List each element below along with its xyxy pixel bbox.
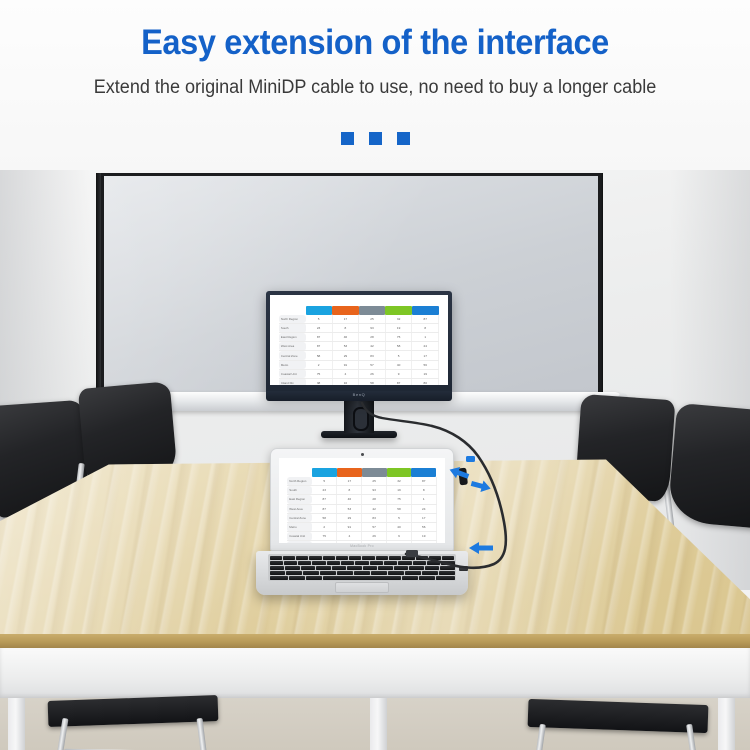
column-header-3 (387, 468, 412, 477)
spreadsheet-dashboard: North Region517253287South23893198East R… (270, 295, 448, 385)
monitor-bezel: North Region517253287South23893198East R… (266, 291, 452, 397)
column-header-2 (362, 468, 387, 477)
table-cell: 5 (312, 477, 337, 486)
row-label: North Region (287, 477, 312, 486)
table-cell: 29 (332, 351, 359, 360)
table-cell: 87 (306, 333, 333, 342)
banner-header: Easy extension of the interface Extend t… (0, 0, 750, 170)
table-cell: 53 (332, 342, 359, 351)
table-cell: 87 (411, 477, 436, 486)
table-cell: 75 (312, 532, 337, 541)
table-cell: 87 (387, 541, 412, 543)
table-cell: 56 (411, 522, 436, 531)
table-cell: 17 (332, 315, 359, 324)
table-cell: 87 (306, 342, 333, 351)
table-cell: 17 (337, 477, 362, 486)
table-leg-left (8, 698, 25, 750)
laptop-lid: North Region517253287South23893198East R… (270, 448, 454, 551)
table-cell: 5 (306, 315, 333, 324)
table-row: Central Zone582983517 (287, 513, 436, 522)
table-cell: 4 (332, 369, 359, 378)
table-cell: 16 (337, 541, 362, 543)
laptop-screen: North Region517253287South23893198East R… (279, 458, 445, 543)
table-cell: 29 (337, 513, 362, 522)
column-header-4 (411, 468, 436, 477)
page-subtitle: Extend the original MiniDP cable to use,… (19, 64, 732, 100)
page-title: Easy extension of the interface (26, 0, 724, 64)
table-cell: 46 (337, 495, 362, 504)
table-cell: 40 (385, 360, 412, 369)
column-header-1 (332, 306, 359, 315)
table-cell: 9 (387, 532, 412, 541)
dot-1-icon (341, 132, 354, 145)
monitor-screen: North Region517253287South23893198East R… (270, 295, 448, 385)
table-cell: 93 (359, 323, 386, 332)
row-label: Inland Div (279, 378, 306, 385)
table-row: East Region874628751 (287, 495, 436, 504)
external-monitor: North Region517253287South23893198East R… (266, 291, 452, 409)
row-label: West Area (287, 504, 312, 513)
table-cell: 5 (387, 513, 412, 522)
table-cell: 4 (337, 532, 362, 541)
table-row: North Region517253287 (279, 315, 439, 324)
table-cell: 58 (306, 351, 333, 360)
key-row (270, 561, 455, 565)
table-row: South23893198 (287, 486, 436, 495)
column-header-0 (306, 306, 333, 315)
table-cell: 57 (362, 522, 387, 531)
table-cell: 23 (306, 323, 333, 332)
laptop-brand-label: MacBook Pro (350, 544, 374, 548)
table-cell: 9 (385, 369, 412, 378)
table-cell: 28 (362, 495, 387, 504)
row-label-header (279, 306, 306, 315)
column-header-3 (385, 306, 412, 315)
row-label-header (287, 468, 312, 477)
table-cell: 2 (312, 522, 337, 531)
table-cell: 91 (332, 360, 359, 369)
table-cell: 8 (412, 323, 439, 332)
table-cell: 16 (332, 378, 359, 385)
table-header-row (287, 468, 436, 477)
decorative-dots (0, 131, 750, 145)
table-cell: 58 (362, 541, 387, 543)
monitor-cable-slot (353, 407, 369, 431)
table-cell: 1 (411, 495, 436, 504)
table-row: South23893198 (279, 323, 439, 332)
table-cell: 80 (411, 541, 436, 543)
table-row: Inland Div3816588780 (287, 541, 436, 543)
table-cell: 83 (362, 513, 387, 522)
table-cell: 32 (387, 477, 412, 486)
table-cell: 53 (337, 504, 362, 513)
table-body: North Region517253287South23893198East R… (279, 315, 439, 385)
table-row: East Region874628751 (279, 333, 439, 342)
row-label: South (279, 323, 306, 332)
table-cell: 91 (337, 522, 362, 531)
key-row (270, 576, 455, 580)
row-label: Inland Div (287, 541, 312, 543)
table-cell: 87 (312, 495, 337, 504)
table-cell: 24 (411, 504, 436, 513)
table-cell: 75 (306, 369, 333, 378)
table-row: Coastal Unit75426919 (279, 369, 439, 378)
table-body: North Region517253287South23893198East R… (287, 477, 436, 543)
table-cell: 58 (385, 342, 412, 351)
key-row (270, 556, 455, 560)
dot-3-icon (397, 132, 410, 145)
row-label: Central Zone (279, 351, 306, 360)
row-label: South (287, 486, 312, 495)
table-cell: 17 (411, 513, 436, 522)
table-cell: 38 (306, 378, 333, 385)
table-row: Metro291574056 (287, 522, 436, 531)
table-cell: 87 (412, 315, 439, 324)
laptop: North Region517253287South23893198East R… (256, 448, 468, 598)
table-cell: 42 (362, 504, 387, 513)
table-cell: 25 (359, 315, 386, 324)
table-cell: 58 (359, 378, 386, 385)
table-row: Inland Div3816588780 (279, 378, 439, 385)
row-label: Central Zone (287, 513, 312, 522)
table-cell: 57 (359, 360, 386, 369)
table-cell: 26 (359, 369, 386, 378)
conference-room-photo: North Region517253287South23893198East R… (0, 160, 750, 750)
table-cell: 19 (387, 486, 412, 495)
table-header-row (279, 306, 439, 315)
table-cell: 19 (385, 323, 412, 332)
table-row: Central Zone582983517 (279, 351, 439, 360)
laptop-minidp-port (459, 566, 468, 571)
table-cell: 24 (412, 342, 439, 351)
spreadsheet-body: North Region517253287South23893198East R… (270, 295, 448, 385)
row-label: Metro (279, 360, 306, 369)
table-cell: 75 (387, 495, 412, 504)
table-cell: 75 (385, 333, 412, 342)
dot-2-icon (369, 132, 382, 145)
product-banner: Easy extension of the interface Extend t… (0, 0, 750, 750)
table-cell: 25 (362, 477, 387, 486)
laptop-trackpad[interactable] (335, 582, 389, 593)
table-row: West Area8753425824 (279, 342, 439, 351)
table-cell: 19 (412, 369, 439, 378)
arrow-laptop-port (468, 540, 494, 556)
row-label: Metro (287, 522, 312, 531)
table-leg-middle (370, 698, 387, 750)
table-cell: 58 (387, 504, 412, 513)
table-cell: 17 (412, 351, 439, 360)
table-cell: 87 (385, 378, 412, 385)
table-cell: 56 (412, 360, 439, 369)
table-cell: 8 (337, 486, 362, 495)
column-header-2 (359, 306, 386, 315)
arrow-coupler-upper (448, 465, 470, 481)
table-cell: 46 (332, 333, 359, 342)
table-cell: 2 (306, 360, 333, 369)
table-cell: 5 (385, 351, 412, 360)
table-cell: 1 (412, 333, 439, 342)
key-row (270, 566, 455, 570)
arrow-coupler-lower (470, 478, 492, 494)
column-header-1 (337, 468, 362, 477)
table-cell: 28 (359, 333, 386, 342)
table-cell: 38 (312, 541, 337, 543)
table-row: Metro291574056 (279, 360, 439, 369)
table-front-edge (0, 634, 750, 648)
data-table: North Region517253287South23893198East R… (287, 468, 436, 543)
table-cell: 58 (312, 513, 337, 522)
spreadsheet-dashboard-mirrored: North Region517253287South23893198East R… (279, 458, 445, 543)
row-label: Coastal Unit (279, 369, 306, 378)
row-label: Coastal Unit (287, 532, 312, 541)
table-cell: 83 (359, 351, 386, 360)
table-head (287, 468, 436, 477)
row-label: West Area (279, 342, 306, 351)
monitor-brand-label: BenQ (353, 392, 366, 397)
key-row (270, 571, 455, 575)
webcam-icon (361, 453, 364, 456)
table-head (279, 306, 439, 315)
column-header-4 (412, 306, 439, 315)
table-apron (0, 648, 750, 698)
row-label: East Region (287, 495, 312, 504)
table-cell: 19 (411, 532, 436, 541)
data-table: North Region517253287South23893198East R… (279, 306, 439, 385)
table-cell: 26 (362, 532, 387, 541)
row-label: North Region (279, 315, 306, 324)
table-cell: 32 (385, 315, 412, 324)
table-row: Coastal Unit75426919 (287, 532, 436, 541)
row-label: East Region (279, 333, 306, 342)
table-row: North Region517253287 (287, 477, 436, 486)
table-cell: 8 (332, 323, 359, 332)
spreadsheet-body: North Region517253287South23893198East R… (279, 458, 445, 543)
table-cell: 93 (362, 486, 387, 495)
table-cell: 23 (312, 486, 337, 495)
table-cell: 42 (359, 342, 386, 351)
table-row: West Area8753425824 (287, 504, 436, 513)
table-cell: 80 (412, 378, 439, 385)
column-header-0 (312, 468, 337, 477)
table-leg-right (718, 698, 735, 750)
table-cell: 8 (411, 486, 436, 495)
table-cell: 40 (387, 522, 412, 531)
table-cell: 87 (312, 504, 337, 513)
laptop-keyboard[interactable] (268, 554, 456, 581)
